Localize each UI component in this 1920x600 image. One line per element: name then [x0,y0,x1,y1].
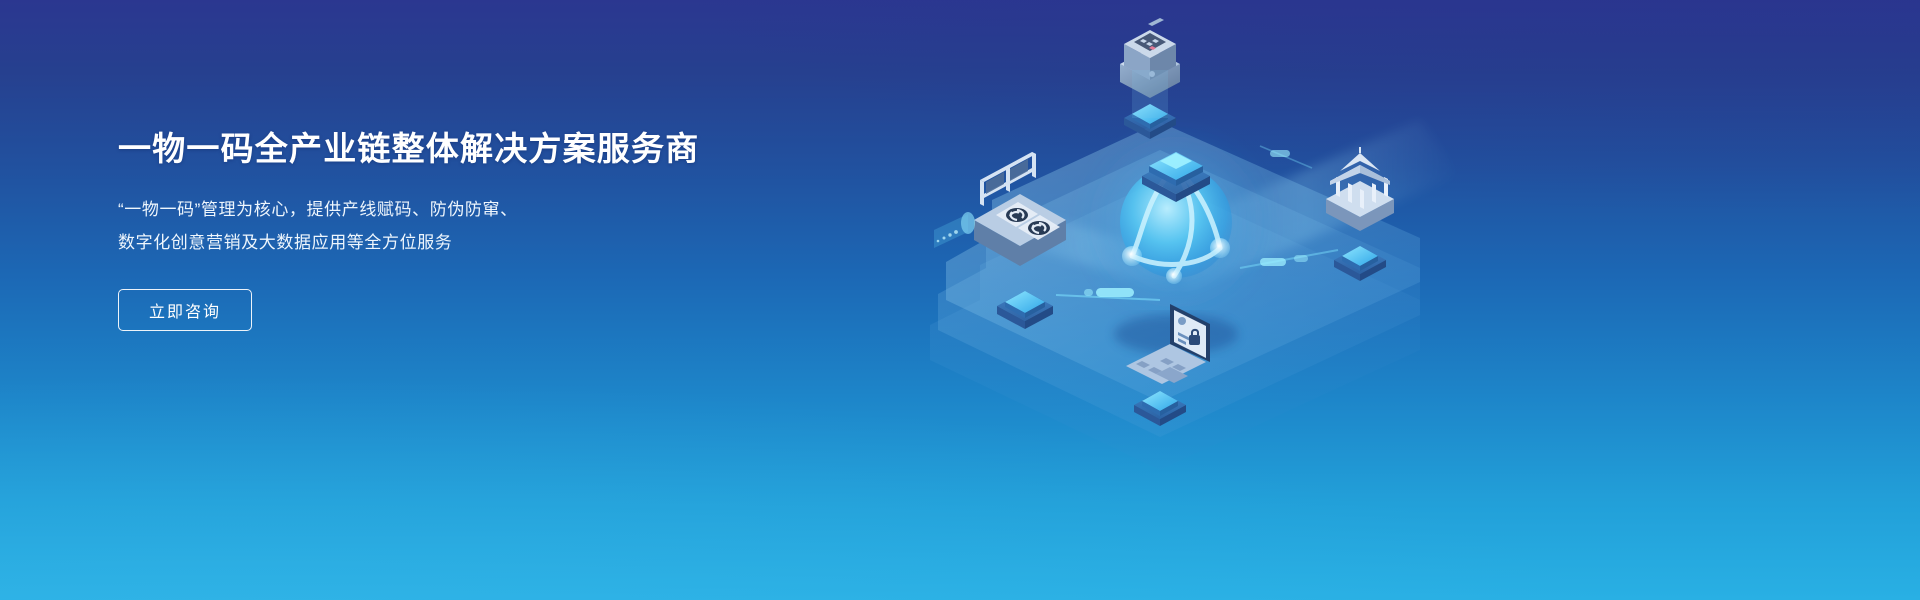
page-title: 一物一码全产业链整体解决方案服务商 [118,128,758,169]
hero-copy-block: 一物一码全产业链整体解决方案服务商 “一物一码”管理为核心，提供产线赋码、防伪防… [118,128,758,331]
hero-subtitle-line-2: 数字化创意营销及大数据应用等全方位服务 [118,226,758,259]
scan-beam-icon [934,212,975,248]
sphere-node [1122,246,1142,266]
pos-light-column [1132,70,1168,118]
isometric-tech-illustration [860,0,1520,600]
server-fan-rack-icon [934,152,1066,266]
sphere-node [1210,238,1230,258]
consult-now-button[interactable]: 立即咨询 [118,289,252,331]
hero-banner: 一物一码全产业链整体解决方案服务商 “一物一码”管理为核心，提供产线赋码、防伪防… [0,0,1920,600]
connection-line [1260,146,1312,168]
sphere-node [1166,268,1182,284]
hero-subtitle-line-1: “一物一码”管理为核心，提供产线赋码、防伪防窜、 [118,193,758,226]
